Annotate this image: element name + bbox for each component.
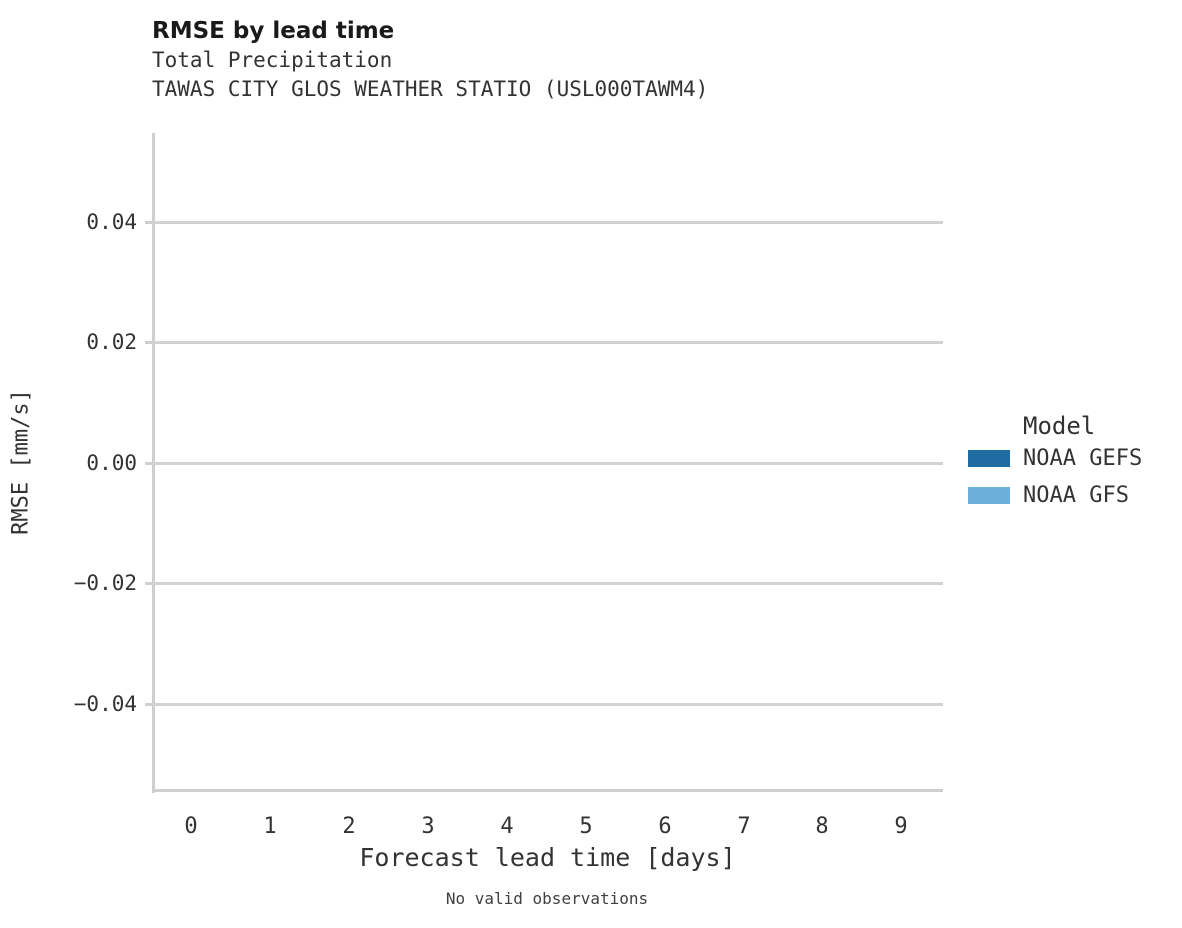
- y-tick-label: 0.04: [86, 212, 137, 233]
- chart-subtitle-station: TAWAS CITY GLOS WEATHER STATIO (USL000TA…: [152, 75, 1052, 104]
- legend-label-noaa-gefs: NOAA GEFS: [1023, 446, 1142, 471]
- legend: Model NOAA GEFS NOAA GFS: [968, 412, 1142, 514]
- y-tick-mark: [145, 582, 152, 585]
- plot-area: [152, 135, 943, 791]
- legend-swatch-noaa-gfs: [968, 487, 1010, 504]
- chart-subtitle-variable: Total Precipitation: [152, 46, 1052, 75]
- y-tick-mark: [145, 341, 152, 344]
- gridline-y: [152, 221, 943, 224]
- no-data-note: No valid observations: [0, 889, 1094, 908]
- gridline-y: [152, 341, 943, 344]
- x-tick-label: 9: [871, 814, 931, 839]
- x-tick-label: 6: [635, 814, 695, 839]
- x-tick-label: 8: [792, 814, 852, 839]
- x-tick-label: 1: [240, 814, 300, 839]
- gridline-y: [152, 582, 943, 585]
- x-tick-label: 4: [477, 814, 537, 839]
- y-tick-label: −0.02: [74, 573, 137, 594]
- x-tick-label: 7: [714, 814, 774, 839]
- legend-item-noaa-gefs[interactable]: NOAA GEFS: [968, 440, 1142, 477]
- y-axis-title: RMSE [mm/s]: [9, 312, 34, 612]
- legend-item-noaa-gfs[interactable]: NOAA GFS: [968, 477, 1142, 514]
- legend-label-noaa-gfs: NOAA GFS: [1023, 483, 1129, 508]
- legend-title: Model: [1023, 412, 1142, 440]
- gridline-y: [152, 703, 943, 706]
- page-title: RMSE by lead time: [152, 16, 1052, 46]
- y-tick-label: 0.02: [86, 332, 137, 353]
- x-tick-label: 0: [161, 814, 221, 839]
- chart-title-block: RMSE by lead time Total Precipitation TA…: [152, 16, 1052, 104]
- legend-swatch-noaa-gefs: [968, 450, 1010, 467]
- y-tick-label: −0.04: [74, 694, 137, 715]
- x-tick-label: 3: [398, 814, 458, 839]
- y-tick-mark: [145, 462, 152, 465]
- x-axis-title: Forecast lead time [days]: [152, 843, 943, 872]
- x-tick-label: 5: [556, 814, 616, 839]
- y-tick-mark: [145, 703, 152, 706]
- gridline-y: [152, 462, 943, 465]
- y-tick-mark: [145, 221, 152, 224]
- x-tick-label: 2: [319, 814, 379, 839]
- y-tick-label: 0.00: [86, 453, 137, 474]
